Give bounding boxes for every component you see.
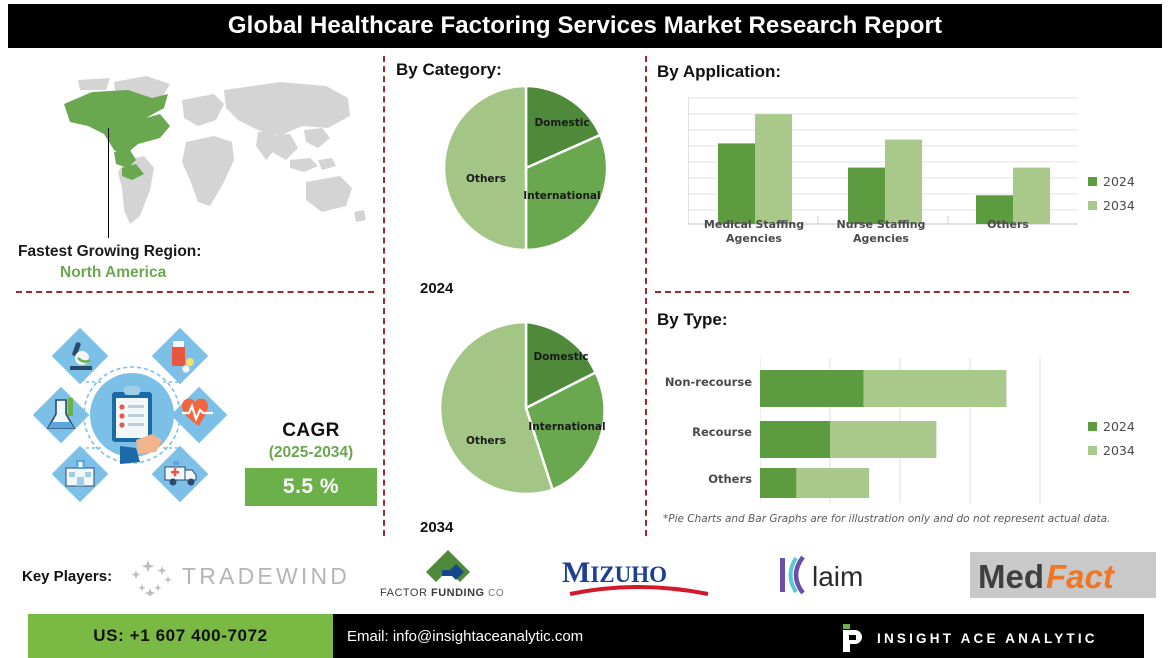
footer-contact-block: Email: info@insightaceanalytic.com INSIG… <box>333 614 1144 658</box>
fastest-growing-region-label: Fastest Growing Region: <box>18 243 201 261</box>
legend-label-2034: 2034 <box>1103 443 1135 458</box>
type-legend: 2024 2034 <box>1088 419 1135 467</box>
report-header: Global Healthcare Factoring Services Mar… <box>8 4 1162 48</box>
heart-pulse-icon <box>171 387 228 444</box>
bar-2024-recourse <box>760 421 830 458</box>
divider-horizontal-left <box>16 291 374 293</box>
pie-slice-label-domestic: Domestic <box>533 351 588 363</box>
footer-phone: US: +1 607 400-7072 <box>93 626 267 646</box>
application-legend: 2024 2034 <box>1088 174 1135 222</box>
legend-item-2024: 2024 <box>1088 174 1135 189</box>
by-category-title: By Category: <box>396 60 502 80</box>
application-category-label: Nurse StaffingAgencies <box>822 218 940 246</box>
footer-phone-block: US: +1 607 400-7072 <box>28 614 333 658</box>
application-category-label: Others <box>960 218 1056 232</box>
pie-year-2024: 2024 <box>420 280 453 297</box>
legend-item-2034: 2034 <box>1088 443 1135 458</box>
legend-label-2034: 2034 <box>1103 198 1135 213</box>
bar-2034-others <box>796 468 869 498</box>
footer-brand-text: INSIGHT ACE ANALYTIC <box>877 631 1098 646</box>
footer-bar: US: +1 607 400-7072 Email: info@insighta… <box>0 614 1170 658</box>
bar-2024-non-recourse <box>760 370 864 407</box>
infographic-page: Global Healthcare Factoring Services Mar… <box>0 0 1170 658</box>
by-type-title: By Type: <box>657 310 728 330</box>
pie-slice-label-others: Others <box>466 173 506 185</box>
pie-slice-label-international: International <box>523 190 600 202</box>
chart-disclaimer: *Pie Charts and Bar Graphs are for illus… <box>663 513 1110 525</box>
page-title: Global Healthcare Factoring Services Mar… <box>228 12 942 40</box>
cagr-block: CAGR (2025-2034) 5.5 % <box>245 420 377 506</box>
map-pointer-line <box>108 128 109 238</box>
type-category-label: Others <box>640 472 752 486</box>
world-map <box>18 64 370 234</box>
legend-item-2034: 2034 <box>1088 198 1135 213</box>
microscope-icon <box>52 328 109 385</box>
bar-2034-recourse <box>830 421 936 458</box>
divider-vertical-right <box>645 56 647 536</box>
legend-swatch-2034 <box>1088 201 1097 210</box>
cagr-label: CAGR <box>245 420 377 442</box>
bar-2024-nurse <box>848 168 885 224</box>
legend-swatch-2024 <box>1088 177 1097 186</box>
flask-icon <box>33 387 90 444</box>
fastest-growing-region-value: North America <box>60 264 166 282</box>
application-bar-chart <box>688 96 1078 226</box>
north-america-highlight <box>64 90 170 180</box>
application-category-label: Medical StaffingAgencies <box>690 218 818 246</box>
type-category-label: Recourse <box>640 425 752 439</box>
svg-text:Fact: Fact <box>1046 558 1116 595</box>
factor-funding-logo: FACTOR FUNDING CO <box>376 548 522 600</box>
type-category-label: Non-recourse <box>640 375 752 389</box>
svg-text:laim: laim <box>812 561 863 592</box>
legend-label-2024: 2024 <box>1103 174 1135 189</box>
legend-item-2024: 2024 <box>1088 419 1135 434</box>
key-players-label: Key Players: <box>22 568 112 585</box>
tradewind-logo: TRADEWIND <box>130 556 362 596</box>
insight-ace-logo-icon <box>841 624 865 652</box>
svg-text:TRADEWIND: TRADEWIND <box>182 563 350 589</box>
bar-2024-medical <box>718 143 755 224</box>
world-map-icon <box>18 64 370 234</box>
footer-brand: INSIGHT ACE ANALYTIC <box>841 624 1098 652</box>
medfact-logo: Med Fact <box>970 552 1156 598</box>
pie-slice-label-international: International <box>528 421 605 433</box>
by-application-title: By Application: <box>657 62 781 82</box>
bar-2034-medical <box>755 114 792 224</box>
pie-chart-2034: Domestic International Others <box>436 318 616 498</box>
cagr-value-badge: 5.5 % <box>245 468 377 506</box>
footer-email: Email: info@insightaceanalytic.com <box>347 628 583 645</box>
bar-2034-nurse <box>885 140 922 224</box>
pie-slice-label-others: Others <box>466 435 506 447</box>
legend-swatch-2034 <box>1088 446 1097 455</box>
svg-text:FACTOR FUNDING CO: FACTOR FUNDING CO <box>380 587 504 599</box>
healthcare-icons-cluster <box>24 312 240 518</box>
legend-swatch-2024 <box>1088 422 1097 431</box>
legend-label-2024: 2024 <box>1103 419 1135 434</box>
klaim-logo: laim <box>776 552 902 598</box>
pie-slice-label-domestic: Domestic <box>534 117 589 129</box>
divider-vertical-left <box>383 56 385 536</box>
cagr-years: (2025-2034) <box>245 444 377 462</box>
type-bar-chart <box>760 358 1060 503</box>
bar-2024-others <box>760 468 796 498</box>
bar-2034-others <box>1013 168 1050 224</box>
mizuho-logo: MIZUHO <box>560 556 718 600</box>
bar-2034-non-recourse <box>864 370 1007 407</box>
pie-chart-2024: Domestic International Others <box>440 82 612 254</box>
hospital-building-icon <box>52 446 109 503</box>
pie-year-2034: 2034 <box>420 519 453 536</box>
divider-horizontal-right <box>655 291 1129 293</box>
svg-text:Med: Med <box>978 558 1044 595</box>
svg-text:MIZUHO: MIZUHO <box>562 556 667 589</box>
